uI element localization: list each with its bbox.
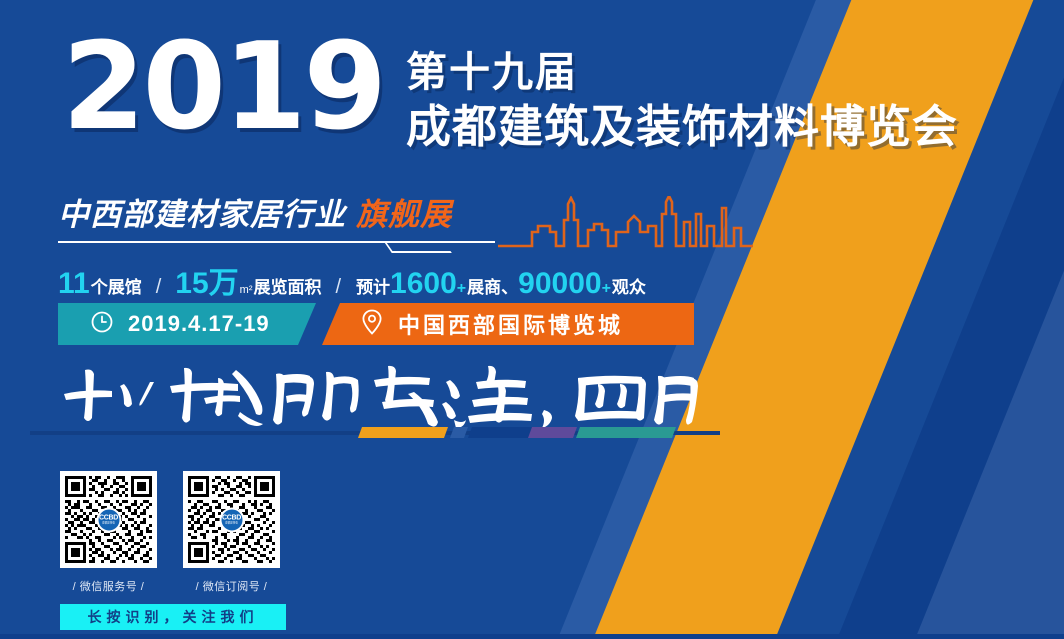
divider-segment-orange [358,427,448,438]
venue-bar: 中国西部国际博览城 [322,303,694,345]
qr-subscription-account[interactable]: CCBD 成都建博会 / 微信订阅号 / [183,471,280,594]
qr-label-subscription: / 微信订阅号 / [183,578,280,594]
divider-segment-purple [528,427,577,438]
event-name-text: 成都建筑及装饰材料博览会 [406,100,958,154]
title-block: 第十九届 成都建筑及装饰材料博览会 [406,48,958,154]
visitors-plus: + [602,280,611,298]
qr-label-service: / 微信服务号 / [60,578,157,594]
qr-logo-sub-text: 成都建博会 [225,521,238,525]
area-label: 展览面积 [253,273,321,298]
divider-segment-teal [576,427,676,438]
qr-logo-sub-text: 成都建博会 [102,521,115,525]
clock-icon [90,310,114,339]
qr-code-image-service[interactable]: CCBD 成都建博会 [60,471,157,568]
subtitle-main: 中西部建材家居行业 [58,197,346,232]
qr-logo-main-text: CCBD [222,514,241,521]
stats-row: 11个展馆 / 15万m²展览面积 / 预计1600+展商、90000+观众 [58,258,646,294]
qr-code-image-subscription[interactable]: CCBD 成都建博会 [183,471,280,568]
venue-text: 中国西部国际博览城 [398,308,623,340]
qr-row: CCBD 成都建博会 / 微信服务号 / [60,471,300,594]
visitors-number: 90000 [518,267,601,301]
divider-segment-blue-dark [468,427,534,438]
qr-service-account[interactable]: CCBD 成都建博会 / 微信服务号 / [60,471,157,594]
qr-section: CCBD 成都建博会 / 微信服务号 / [60,471,300,630]
subtitle-accent: 旗舰展 [356,197,452,232]
subtitle-text: 中西部建材家居行业旗舰展 [58,196,452,234]
date-text: 2019.4.17-19 [128,311,270,337]
follow-us-button[interactable]: 长按识别，关注我们 [60,604,286,630]
exhibition-poster: 2019 第十九届 成都建筑及装饰材料博览会 中西部建材家居行业旗舰展 11个展… [0,0,1064,639]
exhibitors-prefix: 预计 [356,273,390,298]
area-number: 15万 [175,258,238,302]
city-skyline-icon [498,196,753,253]
date-bar: 2019.4.17-19 [58,303,316,345]
exhibitors-label: 展商、 [467,273,518,298]
subtitle-row: 中西部建材家居行业旗舰展 [58,196,698,250]
halls-label: 个展馆 [91,273,142,298]
divider-segment-blue-light [450,427,468,438]
halls-number: 11 [58,267,90,301]
segmented-divider [30,431,720,435]
info-bars: 2019.4.17-19 中国西部国际博览城 [58,303,694,345]
visitors-label: 观众 [612,273,646,298]
edition-text: 第十九届 [406,48,958,96]
exhibitors-number: 1600 [390,267,457,301]
exhibitors-plus: + [457,280,466,298]
qr-center-logo: CCBD 成都建博会 [219,507,244,532]
subtitle-tick [384,242,452,253]
area-unit: m² [240,284,253,296]
slogan [58,358,708,428]
headline: 2019 第十九届 成都建筑及装饰材料博览会 [62,36,958,154]
stat-separator-1: / [156,276,162,299]
year-text: 2019 [62,36,384,140]
stat-separator-2: / [335,276,341,299]
qr-logo-main-text: CCBD [99,514,118,521]
qr-center-logo: CCBD 成都建博会 [96,507,121,532]
location-pin-icon [360,309,384,340]
